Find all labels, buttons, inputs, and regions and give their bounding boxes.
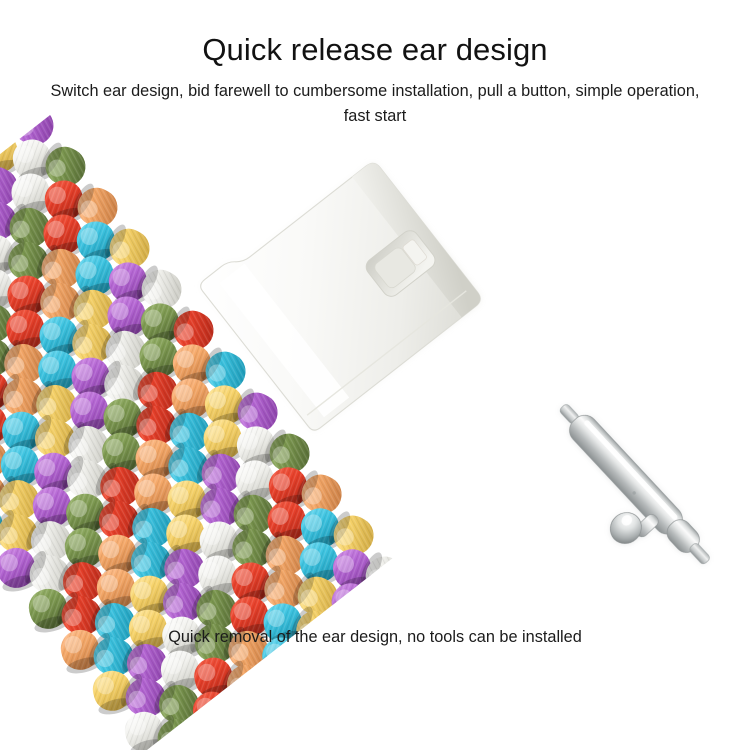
quick-release-connector [228, 178, 468, 408]
bottom-caption: Quick removal of the ear design, no tool… [0, 626, 750, 648]
quick-release-spring-bar [515, 385, 745, 595]
product-photo [0, 150, 750, 620]
page-title: Quick release ear design [0, 30, 750, 70]
header: Quick release ear design Switch ear desi… [0, 0, 750, 129]
page-subtitle: Switch ear design, bid farewell to cumbe… [47, 79, 703, 129]
product-feature-image: Quick release ear design Switch ear desi… [0, 0, 750, 750]
